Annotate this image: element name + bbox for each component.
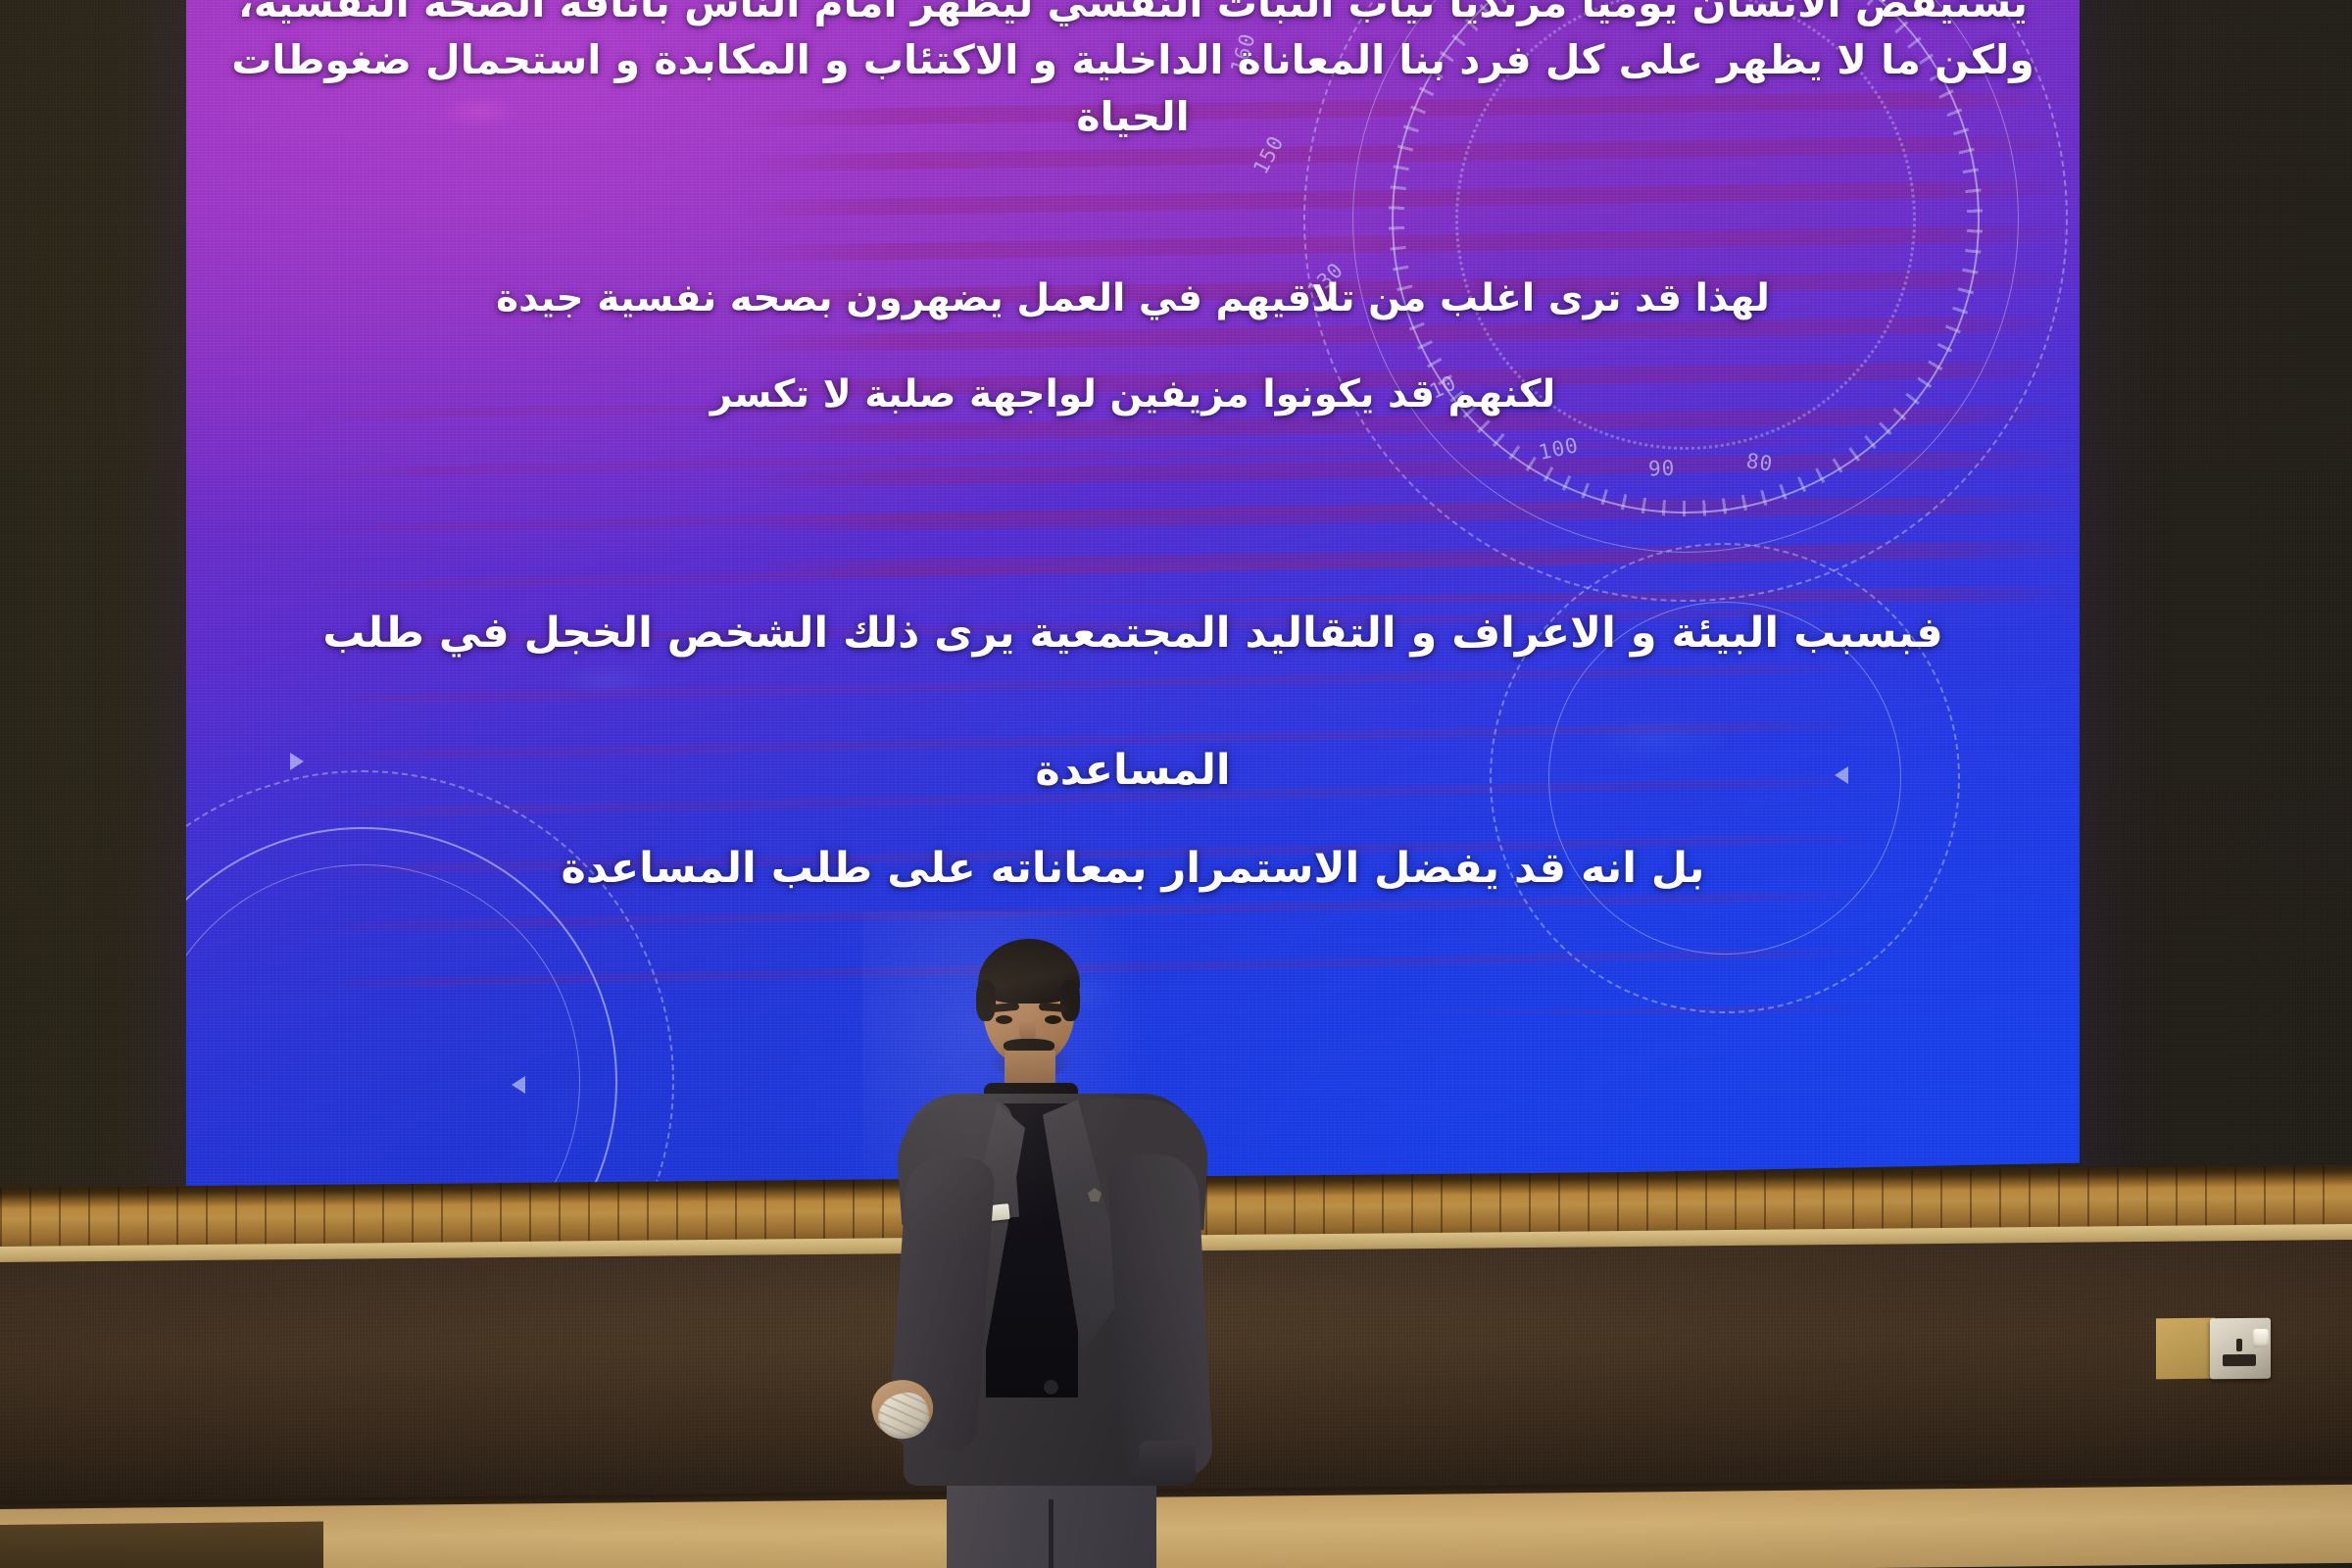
socket-earth-pin-icon (2236, 1339, 2242, 1351)
presenter-hand-in-pocket (1139, 1441, 1196, 1484)
presenter-hair-side-left (976, 980, 996, 1021)
socket-backplate (2156, 1318, 2215, 1380)
floor-shadow-left (0, 1522, 323, 1568)
presenter-jacket-button (1044, 1380, 1058, 1395)
presenter (862, 911, 1235, 1568)
presenter-arm-right (1106, 1152, 1213, 1480)
socket-switch[interactable] (2253, 1329, 2269, 1347)
presenter-eye-right (1045, 1015, 1061, 1024)
presenter-hair-side-right (1060, 980, 1080, 1021)
presenter-eye-left (996, 1015, 1012, 1024)
presenter-trouser-seam (1049, 1499, 1053, 1568)
presentation-hall-scene: 160 150 130 110 100 90 80 يستيقض الانسان… (0, 0, 2352, 1568)
socket-hole-icon (2223, 1354, 2256, 1366)
